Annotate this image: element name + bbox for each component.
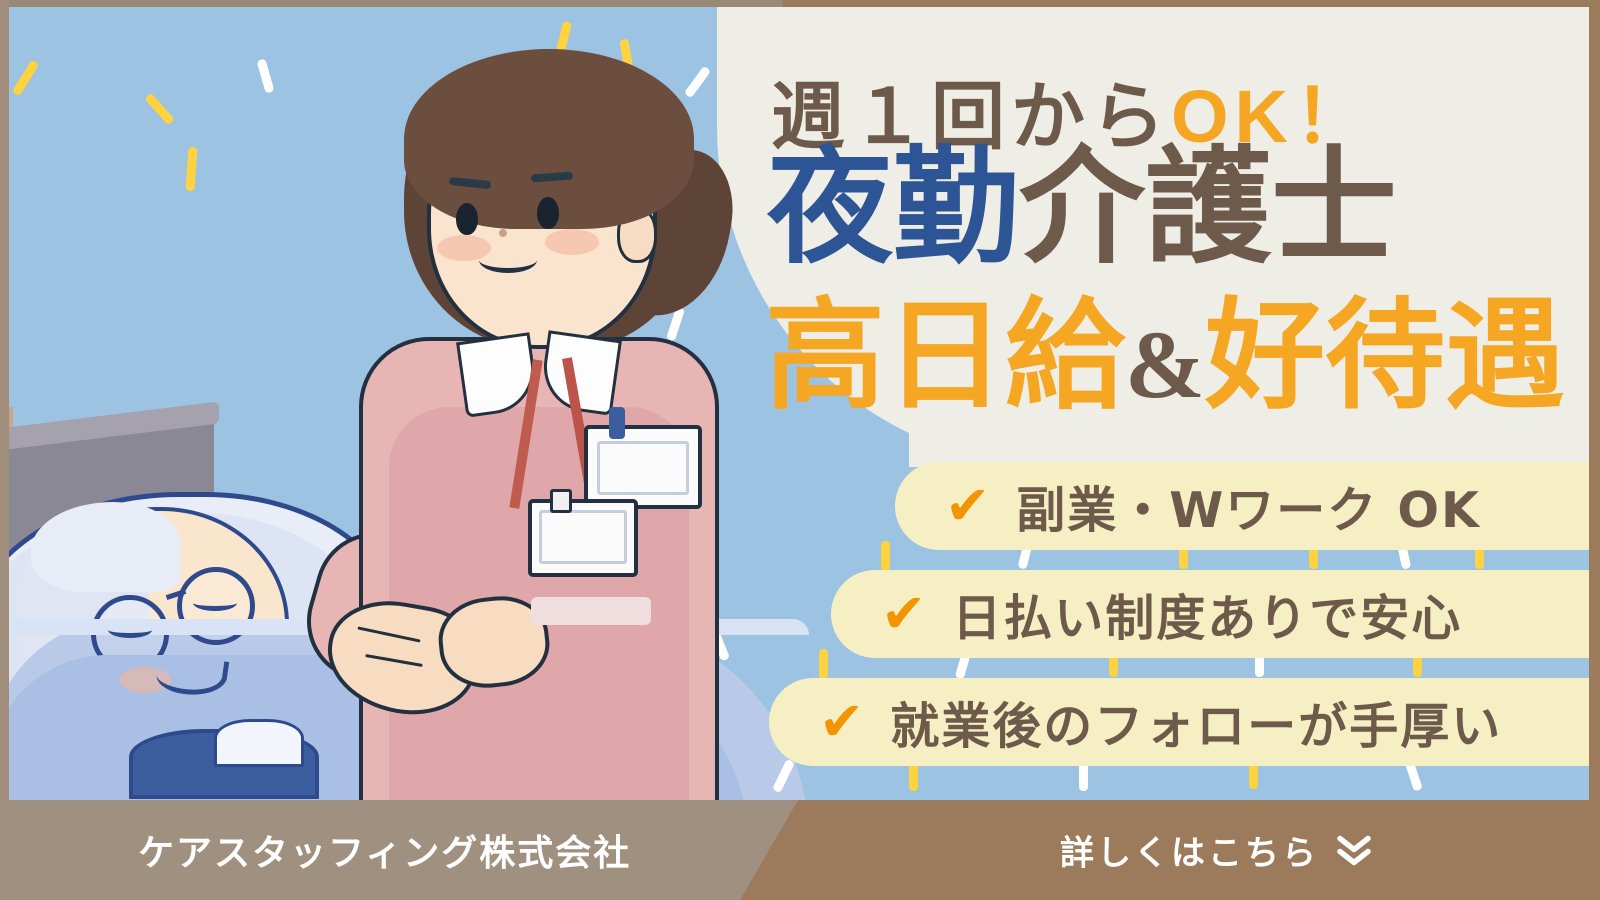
feature-label-side-job: 副業・Wワーク OK <box>1016 471 1481 542</box>
patient-eye-left <box>108 622 152 638</box>
check-icon: ✔ <box>881 587 926 641</box>
cta-label: 詳しくはこちら <box>1060 826 1319 875</box>
frame-strip-left <box>0 0 9 900</box>
check-icon: ✔ <box>819 695 864 749</box>
id-badge-pocket-inner <box>597 441 689 495</box>
job-ad-banner: 週１回からOK！ 夜勤介護士 高日給&好待遇 ✔ 副業・Wワーク OK ✔ 日払… <box>0 0 1600 900</box>
footer-bar: ケアスタッフィング株式会社 詳しくはこちら <box>0 800 1600 900</box>
feature-pill-side-job: ✔ 副業・Wワーク OK <box>895 462 1589 550</box>
headline-caregiver: 介護士 <box>1019 134 1397 281</box>
headline-high-pay: 高日給 <box>765 287 1125 426</box>
illustration-canvas: 週１回からOK！ 夜勤介護士 高日給&好待遇 ✔ 副業・Wワーク OK ✔ 日払… <box>9 7 1589 800</box>
feature-pill-daily-pay: ✔ 日払い制度ありで安心 <box>831 570 1589 658</box>
frame-strip-top-right <box>782 0 1600 7</box>
caregiver-nose <box>499 229 507 237</box>
frame-strip-right <box>1589 0 1600 900</box>
cta-button[interactable]: 詳しくはこちら <box>1060 826 1373 875</box>
feature-label-daily-pay: 日払い制度ありで安心 <box>952 579 1462 650</box>
company-name: ケアスタッフィング株式会社 <box>138 824 631 876</box>
headline-line-3: 高日給&好待遇 <box>765 297 1565 417</box>
feature-label-follow-up: 就業後のフォローが手厚い <box>890 687 1502 758</box>
frame-strip-top-left <box>0 0 782 7</box>
caregiver-cheek-right <box>545 229 599 255</box>
caregiver-eye-left <box>456 203 478 235</box>
uniform-pocket <box>531 597 651 625</box>
lanyard-clip <box>550 489 572 513</box>
id-badge-hanging-inner <box>539 510 627 564</box>
caregiver-eye-right <box>537 197 559 229</box>
headline-ampersand: & <box>1125 311 1205 418</box>
id-badge-clip <box>609 407 625 439</box>
headline-line-2: 夜勤介護士 <box>767 145 1397 271</box>
headline-good-benefits: 好待遇 <box>1205 287 1565 426</box>
patient-eye-right <box>193 595 237 611</box>
confetti-stick <box>819 649 828 679</box>
feature-pill-follow-up: ✔ 就業後のフォローが手厚い <box>769 678 1589 766</box>
patient-undershirt <box>214 719 304 767</box>
chevron-double-down-icon <box>1335 833 1373 867</box>
check-icon: ✔ <box>945 479 990 533</box>
confetti-stick <box>881 541 890 571</box>
caregiver-smile <box>479 247 537 273</box>
headline-night-shift: 夜勤 <box>767 134 1019 281</box>
